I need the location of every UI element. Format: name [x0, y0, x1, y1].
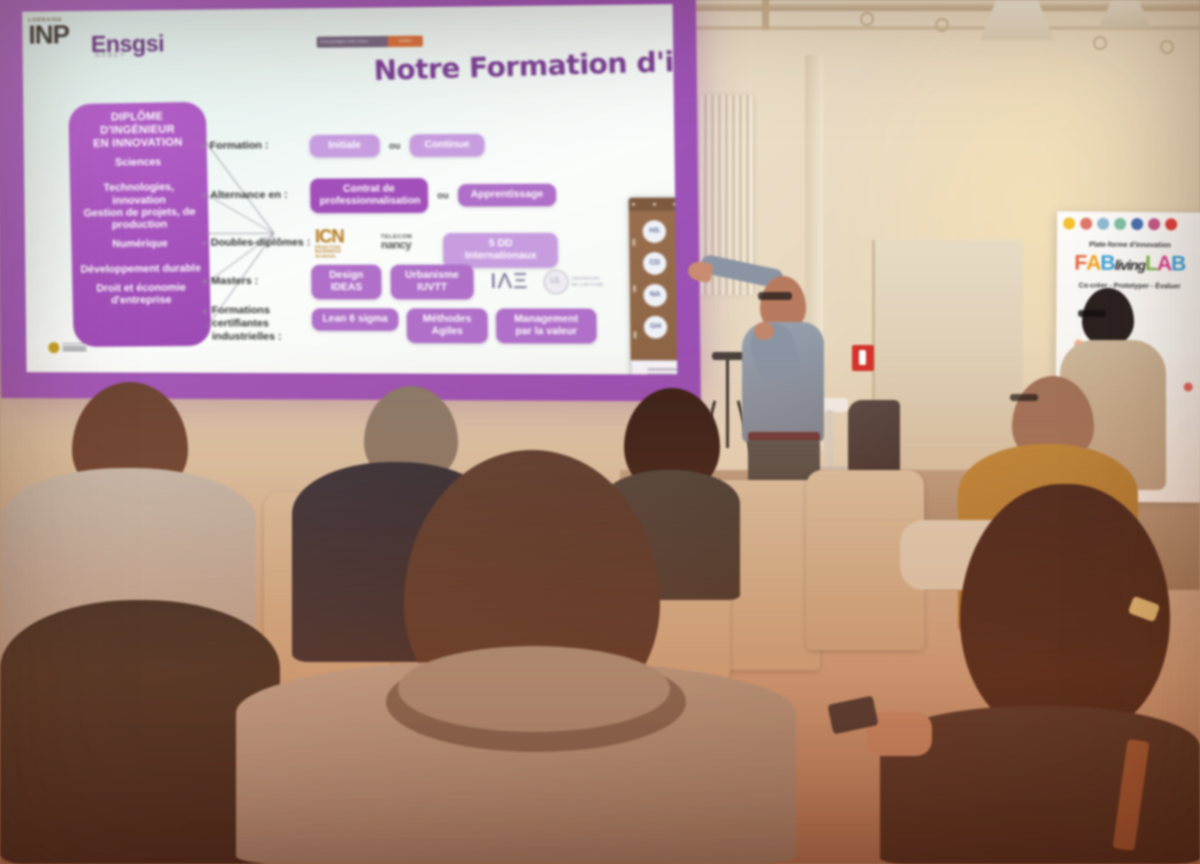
banner-title-a: A	[1086, 253, 1100, 274]
row-alternance-label: Alternance en :	[210, 189, 310, 203]
chip-contrat-pro[interactable]: Contrat de professionnalisation	[310, 178, 428, 213]
partner-logo-6-icon	[1148, 218, 1160, 230]
person-beige-head	[1082, 288, 1134, 346]
row-formation-label: Formation :	[210, 139, 310, 153]
video-call-panel[interactable]: HS CD NA GH	[629, 198, 678, 375]
row-masters-label: Masters :	[211, 275, 311, 288]
footer-seal-icon	[48, 342, 59, 353]
row-bullet-icon	[202, 195, 205, 198]
projection-screen: LORRAINE INP Ensgsi NANCY Vous partagez …	[0, 0, 701, 401]
row-doubles-diplomes: Doubles-diplômes : ICN FRACTIVE BUSINESS…	[202, 218, 558, 267]
partner-logo-3-icon	[1097, 218, 1109, 230]
participant-avatar-0[interactable]: HS	[643, 220, 667, 243]
connector-ou-1: ou	[389, 140, 400, 150]
person-beige-glasses-icon	[1078, 310, 1106, 317]
row-bullet-icon	[201, 145, 204, 148]
banner-title-b2: B	[1171, 253, 1185, 274]
row-bullet-icon	[203, 310, 206, 313]
banner-dot-2-icon	[1184, 382, 1193, 391]
row-masters: Masters : Design IDEAS Urbanisme IUVTT I…	[203, 265, 604, 299]
banner-claim: Co-créer - Prototyper - Évaluer	[1057, 282, 1200, 290]
screenshare-notification[interactable]: Vous partagez votre écran Arrêter	[317, 36, 423, 48]
panel-scroll-marker	[633, 285, 636, 292]
fire-extinguisher-sign	[852, 345, 874, 371]
panel-scroll-marker	[632, 239, 635, 246]
video-call-dot-icon	[673, 203, 676, 206]
university-label-l2: DE LORRAINE	[571, 282, 603, 288]
banner-title-a2: A	[1157, 253, 1171, 274]
participant-avatar-3[interactable]: GH	[644, 316, 668, 339]
banner-title-f: F	[1074, 253, 1086, 274]
university-label: UNIVERSITÉ DE LORRAINE	[571, 276, 603, 288]
diploma-heading-3: EN INNOVATION	[75, 136, 201, 151]
participant-avatar-2[interactable]: NA	[643, 284, 667, 307]
icn-logo-l3: SCHOOL	[315, 254, 344, 258]
thumbnail-rows	[648, 368, 678, 374]
telecom-nancy-logo: TELECOM nancy	[381, 235, 413, 252]
screenshot-root: LORRAINE INP Ensgsi NANCY Vous partagez …	[0, 0, 1200, 864]
thumbnail-chart-panel[interactable]	[631, 360, 678, 375]
pipe-hook-2-icon	[1093, 36, 1107, 50]
slide-title: Notre Formation d'ingénieur	[373, 46, 677, 87]
pipe-hook-4-icon	[860, 12, 874, 26]
diploma-item-5: Droit et économie d'entreprise	[78, 281, 204, 307]
iae-logo: IΛΞ	[490, 269, 528, 294]
video-call-dot-icon	[652, 203, 655, 206]
row-bullet-icon	[203, 242, 206, 245]
notification-message: Vous partagez votre écran	[317, 36, 388, 44]
university-seal-icon: UL	[543, 269, 568, 294]
slide-footer-logo	[48, 342, 86, 353]
banner-title: FABlivingLAB	[1057, 252, 1200, 274]
banner-partner-logos	[1057, 211, 1200, 230]
row-doubles-label: Doubles-diplômes :	[211, 237, 311, 250]
icn-logo-main: ICN	[315, 226, 344, 246]
notification-action-button[interactable]: Arrêter	[388, 36, 423, 48]
audience-hoodie-hood	[398, 646, 670, 732]
connector-ou-2: ou	[437, 190, 449, 200]
notification-action-label: Arrêter	[388, 36, 423, 43]
row-certifiantes-label: Formations certifiantes industrielles :	[212, 304, 313, 344]
chip-methodes-agiles[interactable]: Méthodes Agiles	[407, 308, 488, 342]
pipe-hook-icon	[935, 18, 949, 32]
chip-continue[interactable]: Continue	[410, 134, 485, 157]
diploma-item-4: Développement durable	[78, 262, 204, 276]
chip-apprentissage[interactable]: Apprentissage	[458, 184, 556, 207]
notification-message-area: Vous partagez votre écran	[317, 36, 388, 48]
tripod	[712, 352, 746, 360]
row-alternance: Alternance en : Contrat de professionnal…	[202, 178, 556, 213]
participant-avatar-1[interactable]: CD	[643, 252, 667, 275]
chip-lean-6-sigma[interactable]: Lean 6 sigma	[312, 308, 399, 330]
partner-logo-7-icon	[1165, 218, 1177, 230]
slide-surface: LORRAINE INP Ensgsi NANCY Vous partagez …	[22, 4, 677, 374]
seal-mark: UL	[544, 270, 567, 289]
chip-management-valeur[interactable]: Management par la valeur	[496, 309, 597, 344]
banner-title-l: L	[1145, 253, 1157, 274]
inp-logo: LORRAINE INP Ensgsi NANCY	[28, 16, 153, 63]
presentation-slide: LORRAINE INP Ensgsi NANCY Vous partagez …	[22, 4, 677, 374]
partner-logo-2-icon	[1080, 218, 1092, 230]
logo-nancy: NANCY	[95, 53, 126, 59]
banner-subtitle: Plate-forme d'innovation	[1057, 241, 1200, 249]
chip-dd-internationaux[interactable]: 5 DD Internationaux	[443, 233, 558, 267]
diploma-item-2: Gestion de projets, de production	[77, 206, 203, 233]
row-certifiantes: Formations certifiantes industrielles : …	[203, 304, 596, 345]
chip-initiale[interactable]: Initiale	[310, 135, 380, 158]
partner-logo-5-icon	[1131, 218, 1143, 230]
diploma-item-1: Technologies, innovation	[76, 181, 202, 208]
presenter-glasses-icon	[758, 292, 792, 300]
partner-logo-1-icon	[1063, 217, 1075, 229]
chip-urbanisme-iuvtt[interactable]: Urbanisme IUVTT	[390, 265, 473, 299]
banner-title-b: B	[1100, 253, 1114, 274]
row-bullet-icon	[203, 280, 206, 283]
presenter-hand-2	[754, 322, 774, 340]
video-call-toolbar[interactable]	[629, 198, 678, 212]
icn-logo: ICN FRACTIVE BUSINESS SCHOOL	[315, 228, 344, 258]
vertical-pipe	[762, 0, 769, 30]
chip-design-ideas[interactable]: Design IDEAS	[311, 265, 381, 299]
diploma-box: DIPLÔME D'INGÉNIEUR EN INNOVATION Scienc…	[68, 102, 211, 347]
video-call-dot-icon	[632, 203, 635, 206]
telecom-logo-bottom: nancy	[381, 240, 413, 251]
partner-logo-4-icon	[1114, 218, 1126, 230]
footer-wordmark	[62, 343, 86, 353]
panel-scroll-marker	[633, 331, 636, 338]
pipe-hook-3-icon	[1160, 40, 1174, 54]
banner-title-living: living	[1114, 258, 1145, 272]
row-formation: Formation : Initiale ou Continue	[201, 134, 484, 158]
university-label-l1: UNIVERSITÉ	[571, 276, 603, 282]
